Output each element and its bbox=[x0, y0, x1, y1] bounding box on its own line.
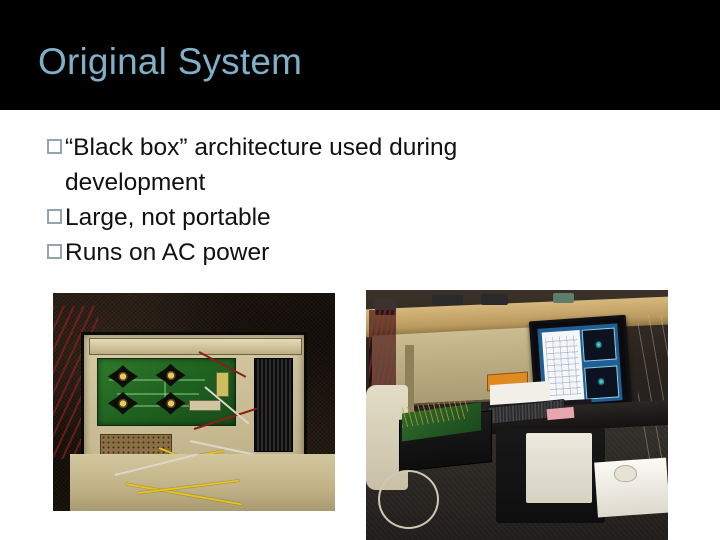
cart-panel bbox=[526, 433, 592, 503]
square-bullet-icon bbox=[47, 139, 62, 154]
list-item: Runs on AC power bbox=[47, 235, 647, 270]
image-panel bbox=[581, 327, 616, 361]
pcb-chip bbox=[189, 400, 221, 411]
pcb-connector bbox=[216, 372, 229, 397]
heatsink-icon bbox=[156, 392, 186, 415]
heatsink-fin-stack bbox=[254, 358, 293, 452]
square-bullet-icon bbox=[47, 209, 62, 224]
lab-bench-photo bbox=[366, 290, 668, 540]
list-item: Large, not portable bbox=[47, 200, 647, 235]
bullet-list: “Black box” architecture used during dev… bbox=[47, 130, 647, 270]
computer-mouse bbox=[614, 465, 637, 482]
pink-note bbox=[547, 406, 575, 420]
square-bullet-icon bbox=[47, 244, 62, 259]
green-circuit-board bbox=[97, 358, 235, 427]
shelf-item bbox=[553, 293, 574, 303]
chassis-bottom-panel bbox=[70, 454, 335, 511]
wall-cables bbox=[638, 315, 668, 465]
image-panel bbox=[584, 365, 619, 399]
list-item-label: Large, not portable bbox=[65, 200, 647, 235]
shelf-item bbox=[432, 295, 462, 305]
shelf-item bbox=[481, 294, 508, 305]
list-item: “Black box” architecture used during dev… bbox=[47, 130, 647, 200]
monitor-screen bbox=[538, 323, 623, 405]
image-panels bbox=[581, 327, 619, 399]
heatsink-icon bbox=[156, 364, 186, 387]
heatsink-icon bbox=[108, 365, 138, 388]
heatsink-icon bbox=[108, 392, 138, 415]
page-title: Original System bbox=[38, 40, 302, 84]
list-item-label: “Black box” architecture used during dev… bbox=[65, 130, 560, 200]
open-chassis-photo bbox=[53, 293, 335, 511]
pcb-trace bbox=[117, 393, 199, 395]
coiled-cable bbox=[378, 470, 439, 529]
list-item-label: Runs on AC power bbox=[65, 235, 647, 270]
slide: Original System “Black box” architecture… bbox=[0, 0, 720, 540]
chassis-rail-top bbox=[89, 338, 302, 354]
